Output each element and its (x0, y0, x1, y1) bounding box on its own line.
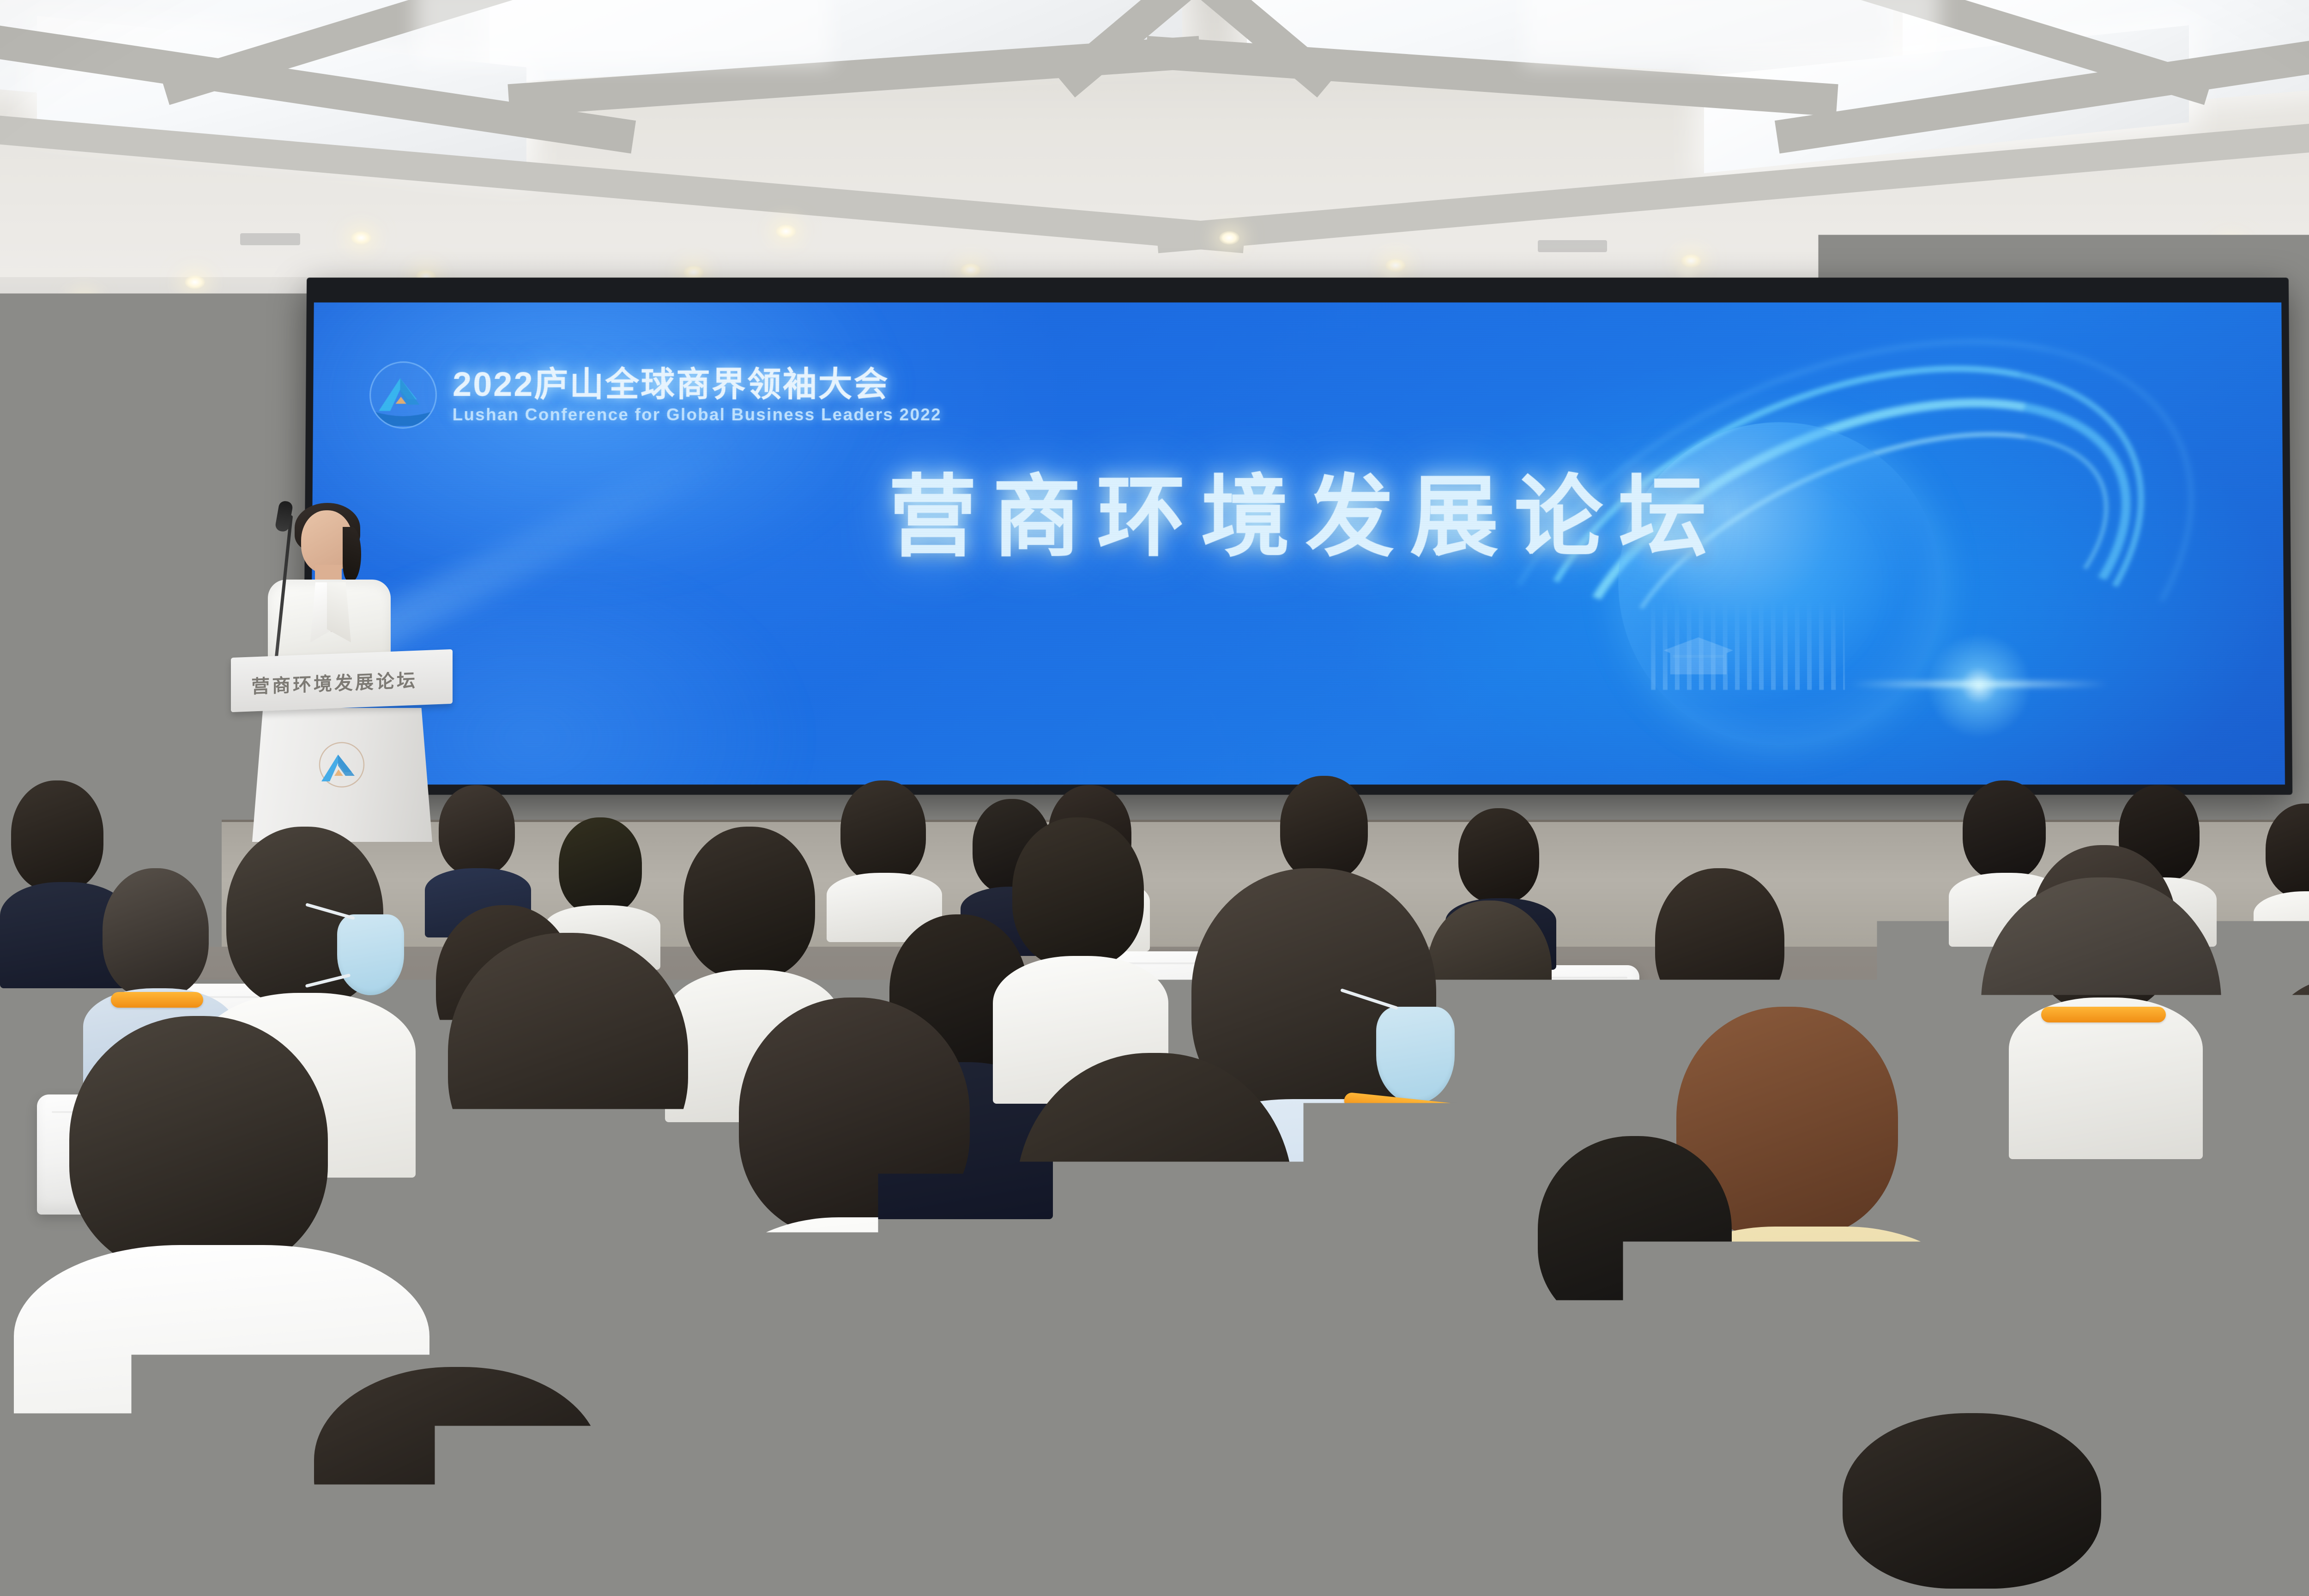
seat-placard: 2022 庐山全球商界领袖大会 Lushan Conference for Gl… (2215, 1387, 2309, 1508)
head (1843, 1413, 2101, 1589)
ceiling-vent (1538, 240, 1607, 252)
forum-main-title: 营商环境发展论坛 (312, 473, 2284, 562)
head (559, 817, 642, 914)
lens-flare (1919, 625, 2040, 746)
conference-title-en: Lushan Conference for Global Business Le… (453, 406, 942, 423)
head (1012, 817, 1144, 967)
head (1655, 868, 1784, 1016)
placard-header-cn: 球商界领袖大会 (1266, 1423, 1348, 1441)
head (439, 785, 515, 875)
placard-logo-icon (2233, 1403, 2249, 1419)
ceiling-downlight (1219, 231, 1239, 245)
ceiling-downlight (1958, 251, 1978, 265)
ceiling-downlight (776, 224, 796, 238)
led-screen: 2022庐山全球商界领袖大会 Lushan Conference for Glo… (310, 302, 2285, 785)
placard-logo-icon (1247, 1426, 1263, 1442)
head (840, 780, 926, 882)
ceiling-downlight (1681, 254, 1701, 268)
head (2263, 979, 2309, 1145)
placard-name: 八里湖 (2237, 1435, 2309, 1490)
ceiling-downlight (351, 231, 371, 245)
ceiling-downlight (185, 275, 205, 289)
head (1981, 877, 2221, 1136)
podium: 营商环境发展论坛 (231, 653, 453, 847)
placard-name: 博合 (1252, 1459, 1329, 1512)
led-screen-frame: 2022庐山全球商界领袖大会 Lushan Conference for Glo… (303, 278, 2292, 795)
torso (1505, 1310, 1829, 1596)
conference-hall-photo: 2022庐山全球商界领袖大会 Lushan Conference for Glo… (0, 0, 2309, 1596)
ceiling-downlight (2221, 242, 2242, 256)
speaker-at-podium (259, 510, 397, 672)
placard-header-cn: 2022 庐山全球商界领袖大会 (2252, 1397, 2309, 1418)
conference-logo-lockup: 2022庐山全球商界领袖大会 Lushan Conference for Glo… (369, 362, 942, 429)
audience-member-foreground (1792, 1413, 2207, 1596)
face-mask (1376, 1007, 1455, 1104)
head (69, 1016, 328, 1275)
head (103, 868, 209, 997)
audience-member (1505, 1136, 1829, 1596)
ceiling-vent (240, 233, 300, 245)
audience-member-foreground (259, 1367, 720, 1596)
face-mask (337, 914, 404, 995)
podium-emblem-icon (314, 739, 369, 790)
head (448, 933, 688, 1182)
head (1280, 776, 1368, 880)
pagoda-silhouette (1659, 635, 1738, 676)
lushan-mountain-icon (369, 362, 437, 429)
audience-member (2254, 979, 2309, 1441)
head (739, 997, 970, 1238)
conference-title-cn: 2022庐山全球商界领袖大会 (453, 367, 942, 401)
seat-placard: 球商界领袖大会 Lushan Conference for Global Bus… (1227, 1410, 1428, 1531)
torso (259, 1513, 720, 1596)
head (1538, 1136, 1732, 1330)
